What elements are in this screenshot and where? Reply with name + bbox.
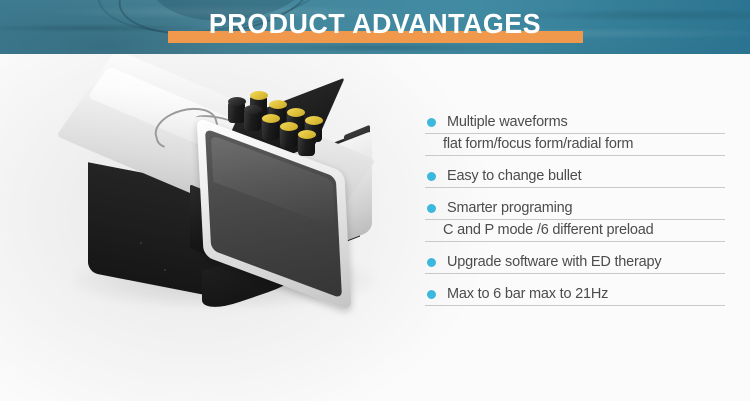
bullet-transmitter: [262, 119, 279, 140]
product-advantages-page: PRODUCT ADVANTAGES: [0, 0, 750, 401]
header-banner: PRODUCT ADVANTAGES: [0, 0, 750, 54]
bullet-transmitter: [298, 135, 315, 156]
list-item: Easy to change bullet: [425, 166, 725, 188]
bullet-cap: [280, 122, 298, 131]
advantage-title: Smarter programing: [425, 198, 725, 220]
list-item: Max to 6 bar max to 21Hz: [425, 284, 725, 306]
banner-title-group: PRODUCT ADVANTAGES: [0, 0, 750, 54]
advantage-title: Max to 6 bar max to 21Hz: [425, 284, 725, 306]
bullet-transmitter: [244, 110, 261, 131]
list-item: Multiple waveforms flat form/focus form/…: [425, 112, 725, 156]
bullet-cap: [228, 97, 246, 106]
product-port-dot: [140, 242, 142, 244]
content-area: Multiple waveforms flat form/focus form/…: [0, 54, 750, 401]
list-item: Upgrade software with ED therapy: [425, 252, 725, 274]
advantage-title: Upgrade software with ED therapy: [425, 252, 725, 274]
bullet-cap: [269, 100, 287, 109]
advantages-list: Multiple waveforms flat form/focus form/…: [425, 112, 725, 316]
advantage-subtitle: C and P mode /6 different preload: [425, 220, 725, 242]
page-title: PRODUCT ADVANTAGES: [15, 8, 735, 40]
advantage-title: Multiple waveforms: [425, 112, 725, 134]
bullet-cap: [262, 114, 280, 123]
bullet-cap: [244, 105, 262, 114]
product-image: [62, 84, 392, 324]
advantage-title: Easy to change bullet: [425, 166, 725, 188]
list-item: Smarter programing C and P mode /6 diffe…: [425, 198, 725, 242]
bullet-cap: [305, 116, 323, 125]
bullet-cap: [298, 130, 316, 139]
bullet-transmitter: [228, 102, 245, 123]
advantage-subtitle: flat form/focus form/radial form: [425, 134, 725, 156]
bullet-transmitter: [280, 127, 297, 148]
bullet-cap: [287, 108, 305, 117]
bullet-cap: [250, 91, 268, 100]
product-port-dot: [164, 269, 166, 271]
